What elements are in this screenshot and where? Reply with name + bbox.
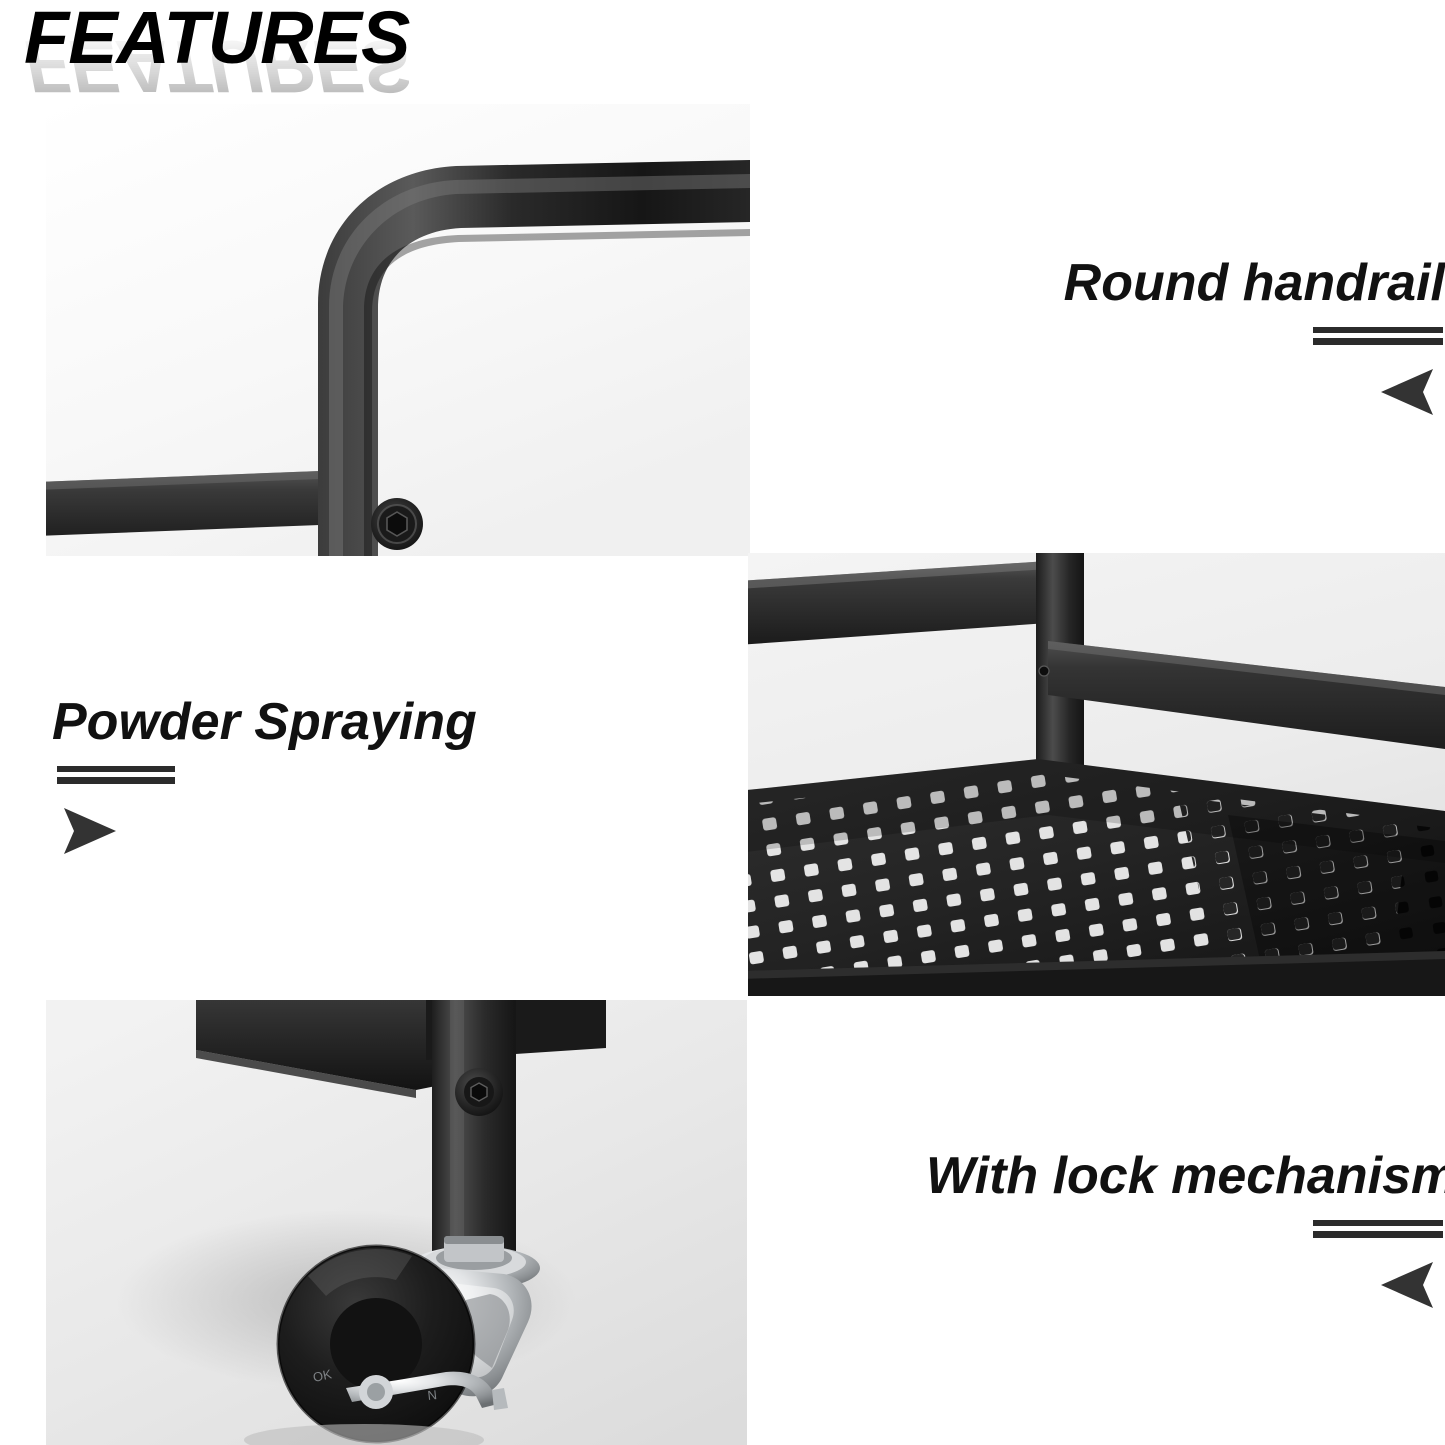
perforated-shelf-photo xyxy=(748,553,1445,996)
caster-illustration: OK N xyxy=(46,1000,747,1445)
caption-rule-top xyxy=(1313,327,1443,333)
arrow-left-icon xyxy=(1379,369,1435,415)
arrow-right-icon xyxy=(62,808,118,854)
feature-label-round-handrail: Round handrail xyxy=(1063,255,1445,311)
arrow-right-wrap xyxy=(52,808,482,854)
caption-rule-bottom xyxy=(1313,1231,1443,1238)
caption-rule-top xyxy=(57,766,175,772)
handrail-illustration xyxy=(46,104,750,556)
leg-hex-screw-icon xyxy=(455,1068,503,1116)
arrow-left-wrap xyxy=(1063,369,1445,415)
caption-rule-stack xyxy=(1313,1220,1443,1238)
svg-text:N: N xyxy=(427,1387,438,1403)
feature-caption-powder-spraying: Powder Spraying xyxy=(52,694,482,854)
arrow-left-wrap xyxy=(926,1262,1445,1308)
hex-screw-icon xyxy=(371,498,423,550)
feature-label-with-lock-mechanism: With lock mechanism xyxy=(926,1148,1445,1204)
caption-rule-stack xyxy=(1313,327,1443,345)
caption-rule-top xyxy=(1313,1220,1443,1226)
page-title-reflection: FEATURES xyxy=(24,30,409,102)
feature-caption-round-handrail: Round handrail xyxy=(1063,255,1445,415)
page-title-block: FEATURES FEATURES xyxy=(24,2,724,107)
feature-caption-with-lock-mechanism: With lock mechanism xyxy=(926,1148,1445,1308)
caption-rule-bottom xyxy=(1313,338,1443,345)
caption-rule-stack xyxy=(57,766,175,784)
shelf-illustration xyxy=(748,553,1445,996)
caption-rule-bottom xyxy=(57,777,175,784)
caster-wheel-photo: OK N xyxy=(46,1000,747,1445)
arrow-left-icon xyxy=(1379,1262,1435,1308)
handrail-closeup-photo xyxy=(46,104,750,556)
feature-label-powder-spraying: Powder Spraying xyxy=(52,694,482,750)
